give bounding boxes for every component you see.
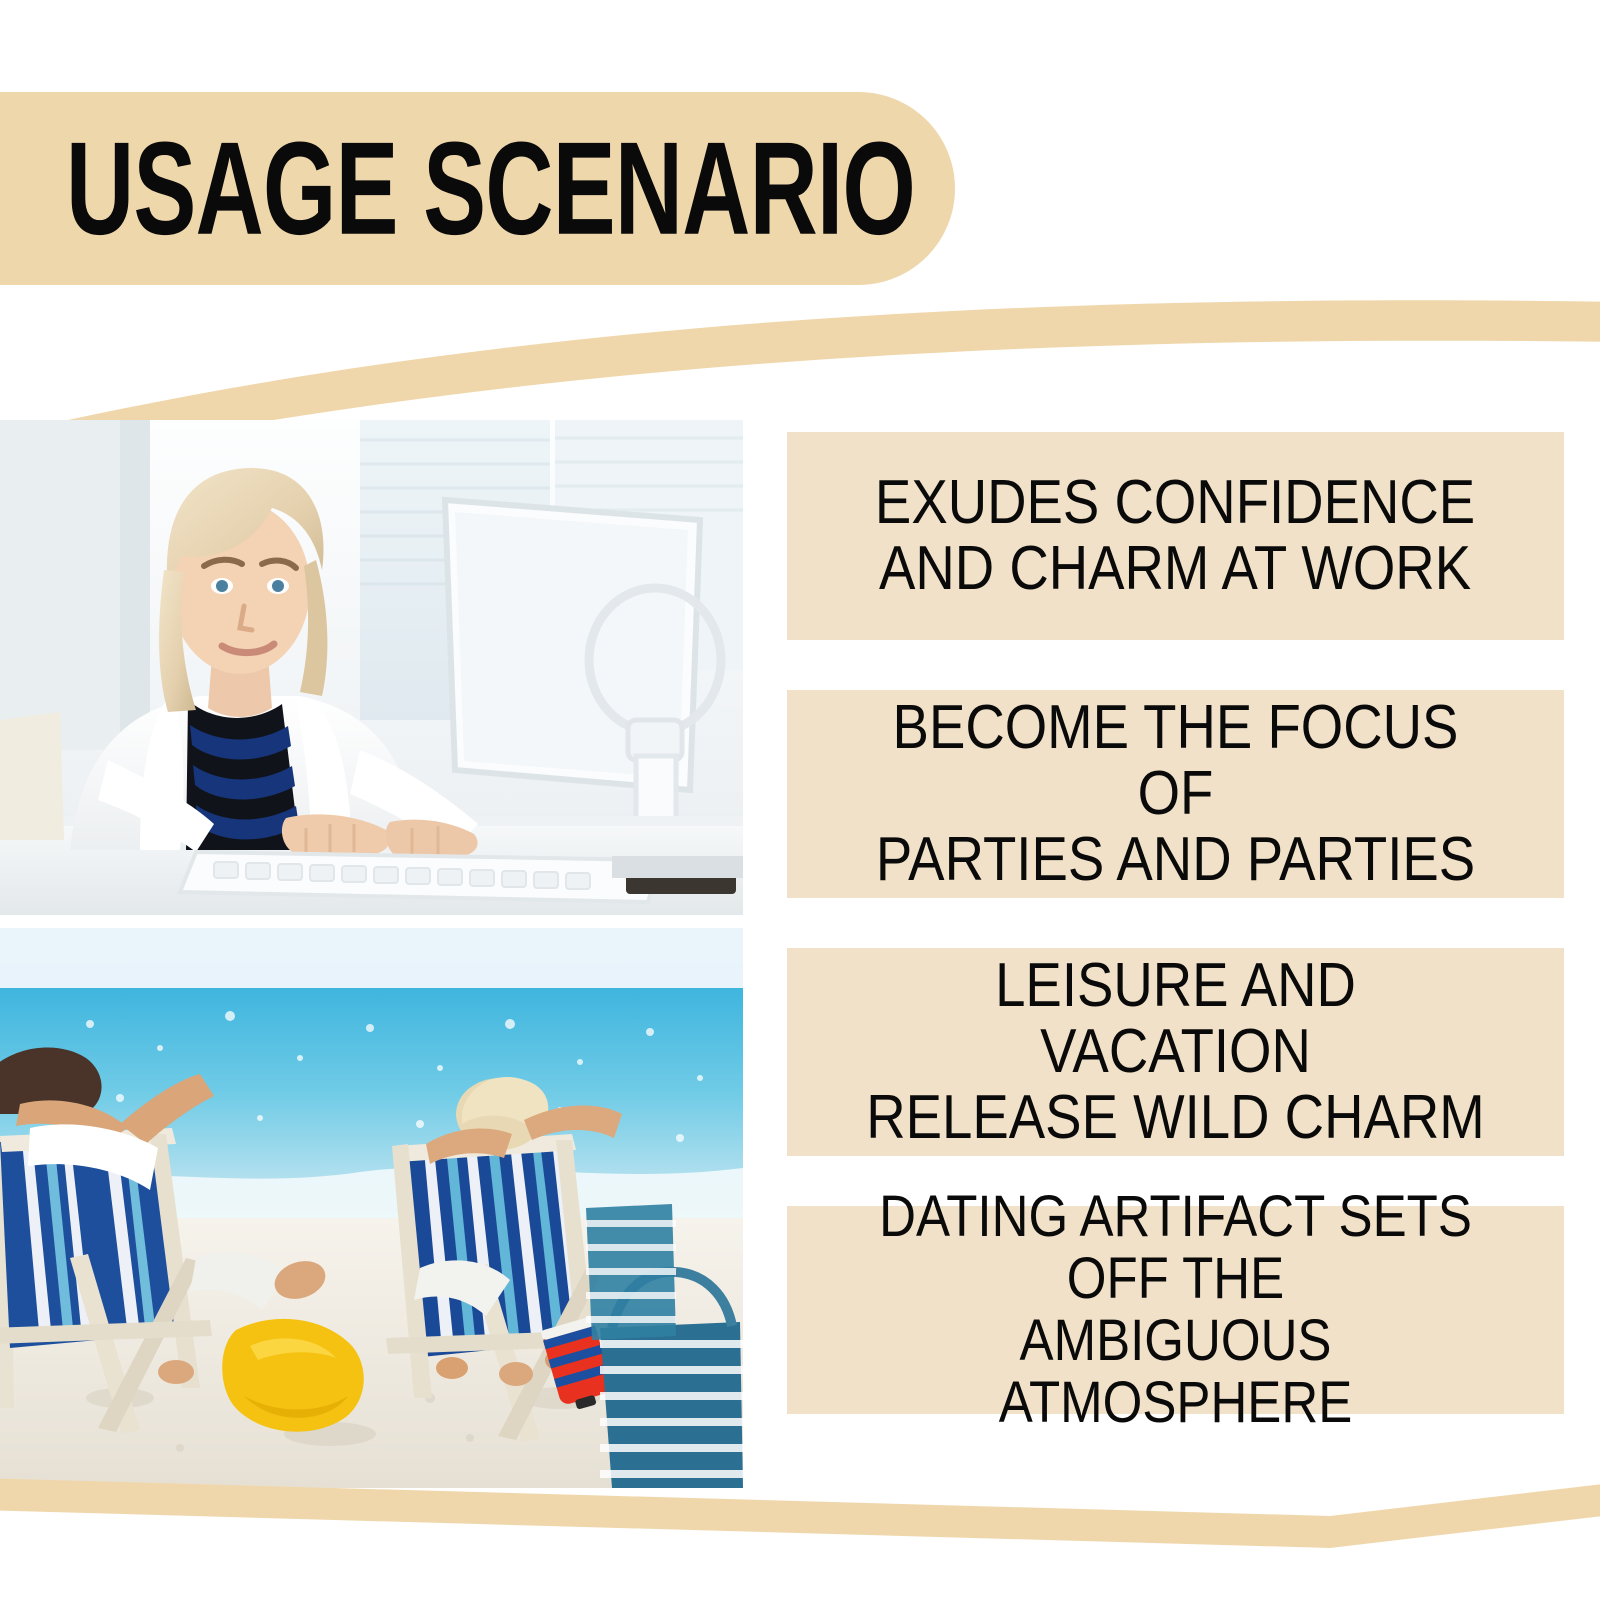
benefit-panel-4-text: DATING ARTIFACT SETS OFF THE AMBIGUOUS A… <box>834 1186 1518 1434</box>
page-title: USAGE SCENARIO <box>66 122 915 254</box>
benefit-panel-1-text: EXUDES CONFIDENCE AND CHARM AT WORK <box>852 470 1498 603</box>
benefit-panel-4: DATING ARTIFACT SETS OFF THE AMBIGUOUS A… <box>787 1206 1564 1414</box>
benefit-panel-3-text: LEISURE AND VACATION RELEASE WILD CHARM <box>834 953 1518 1152</box>
benefit-panel-2: BECOME THE FOCUS OF PARTIES AND PARTIES <box>787 690 1564 898</box>
benefit-panel-3: LEISURE AND VACATION RELEASE WILD CHARM <box>787 948 1564 1156</box>
beach-scene-illustration <box>0 928 743 1488</box>
title-banner: USAGE SCENARIO <box>0 92 955 285</box>
benefit-panel-1: EXUDES CONFIDENCE AND CHARM AT WORK <box>787 432 1564 640</box>
infographic-canvas: USAGE SCENARIO <box>0 0 1600 1600</box>
benefit-panel-2-text: BECOME THE FOCUS OF PARTIES AND PARTIES <box>834 695 1518 894</box>
photo-office-woman-typing <box>0 420 743 915</box>
office-scene-illustration <box>0 420 743 915</box>
photo-beach-deck-chairs <box>0 928 743 1488</box>
